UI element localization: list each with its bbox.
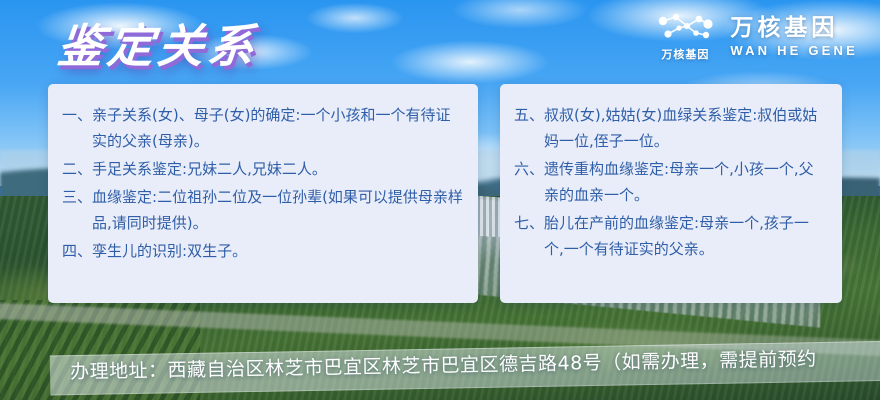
logo-mark: 万核基因	[654, 10, 716, 62]
list-item: 六、 遗传重构血缘鉴定:母亲一个,小孩一个,父亲的血亲一个。	[514, 156, 828, 208]
list-item-text: 手足关系鉴定:兄妹二人,兄妹二人。	[92, 156, 464, 182]
list-item: 二、 手足关系鉴定:兄妹二人,兄妹二人。	[62, 156, 464, 182]
list-item: 五、 叔叔(女),姑姑(女)血绿关系鉴定:叔伯或姑妈一位,侄子一位。	[514, 102, 828, 154]
list-item: 七、 胎儿在产前的血缘鉴定:母亲一个,孩子一个,一个有待证实的父亲。	[514, 210, 828, 262]
list-item-number: 二、	[62, 156, 92, 182]
list-item-number: 三、	[62, 184, 92, 210]
list-item: 四、 孪生儿的识别:双生子。	[62, 238, 464, 264]
list-item: 一、 亲子关系(女)、母子(女)的确定:一个小孩和一个有待证实的父亲(母亲)。	[62, 102, 464, 154]
list-item-number: 一、	[62, 102, 92, 128]
list-item-text: 亲子关系(女)、母子(女)的确定:一个小孩和一个有待证实的父亲(母亲)。	[92, 102, 464, 154]
brand-logo: 万核基因 万核基因 WAN HE GENE	[654, 10, 858, 62]
page-title: 鉴定关系	[55, 10, 262, 76]
list-item-text: 胎儿在产前的血缘鉴定:母亲一个,孩子一个,一个有待证实的父亲。	[544, 210, 828, 262]
list-item-number: 五、	[514, 102, 544, 128]
list-item-text: 血缘鉴定:二位祖孙二位及一位孙辈(如果可以提供母亲样品,请同时提供)。	[92, 184, 464, 236]
list-item-number: 六、	[514, 156, 544, 182]
list-item-number: 七、	[514, 210, 544, 236]
list-item: 三、 血缘鉴定:二位祖孙二位及一位孙辈(如果可以提供母亲样品,请同时提供)。	[62, 184, 464, 236]
list-item-text: 遗传重构血缘鉴定:母亲一个,小孩一个,父亲的血亲一个。	[544, 156, 828, 208]
logo-mark-label: 万核基因	[661, 46, 709, 62]
list-item-number: 四、	[62, 238, 92, 264]
brand-name-en: WAN HE GENE	[730, 44, 858, 57]
dna-molecule-icon	[654, 10, 716, 44]
list-item-text: 孪生儿的识别:双生子。	[92, 238, 464, 264]
list-item-text: 叔叔(女),姑姑(女)血绿关系鉴定:叔伯或姑妈一位,侄子一位。	[544, 102, 828, 154]
brand-name-cn: 万核基因	[730, 16, 838, 39]
promo-poster: 鉴定关系	[0, 0, 880, 400]
relationship-list-panel-left: 一、 亲子关系(女)、母子(女)的确定:一个小孩和一个有待证实的父亲(母亲)。 …	[48, 84, 478, 303]
relationship-list-panel-right: 五、 叔叔(女),姑姑(女)血绿关系鉴定:叔伯或姑妈一位,侄子一位。 六、 遗传…	[500, 84, 842, 303]
brand-name-block: 万核基因 WAN HE GENE	[730, 16, 858, 57]
